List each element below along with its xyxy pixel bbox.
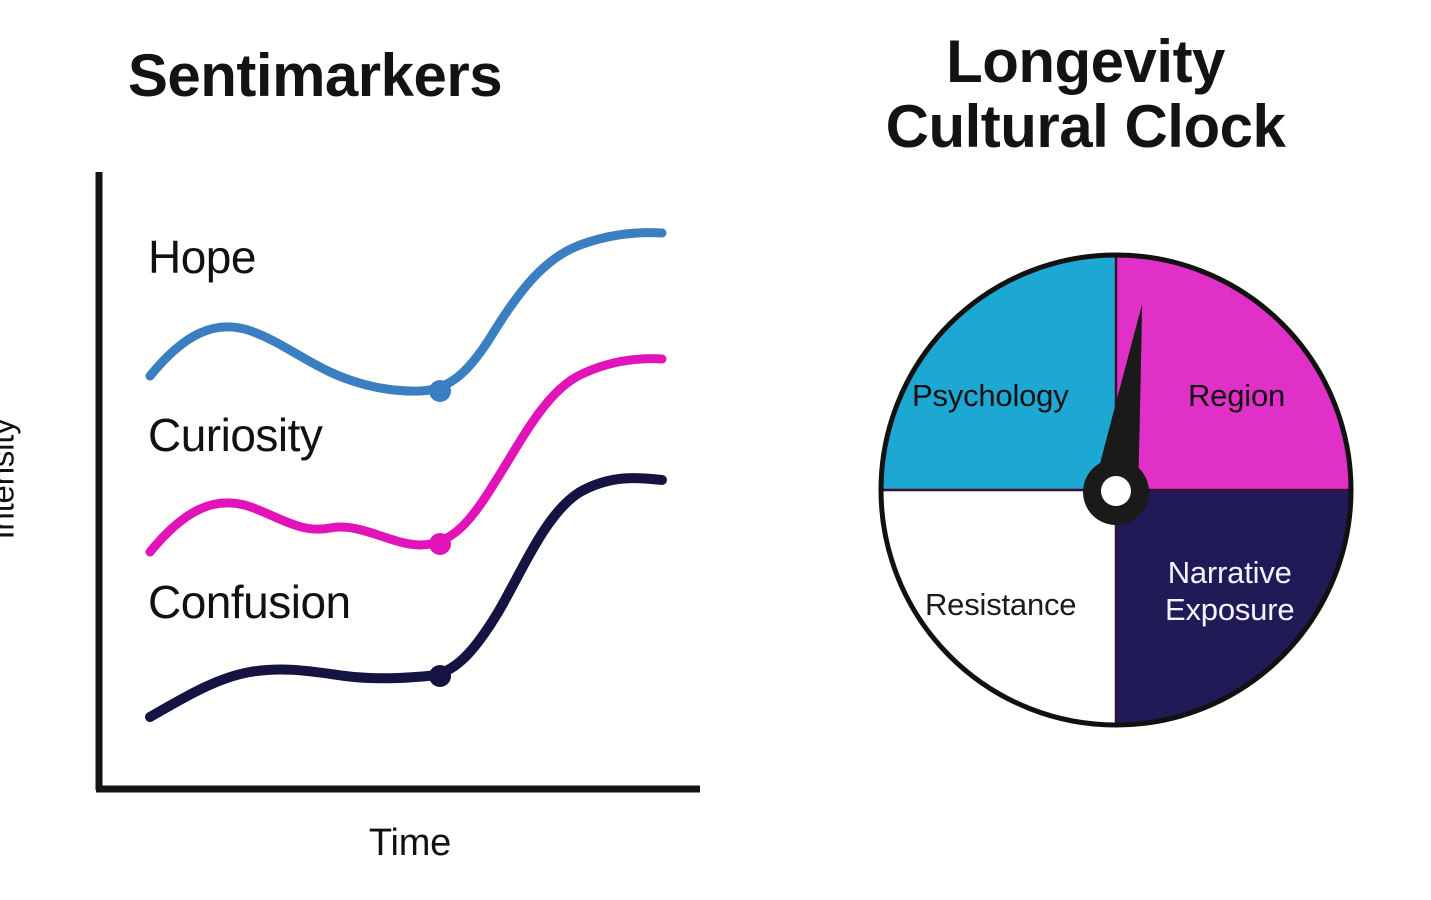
hope-marker-point bbox=[429, 380, 451, 402]
sentimarkers-panel: Sentimarkers Hope Curiosity Confusion In… bbox=[0, 0, 740, 900]
sentimarkers-line-chart bbox=[0, 0, 740, 900]
quadrant-label-resistance: Resistance bbox=[925, 587, 1076, 624]
y-axis-label: Intensity bbox=[0, 418, 22, 539]
quadrant-label-narrative-exposure: Narrative Exposure bbox=[1165, 555, 1294, 628]
quadrant-psychology[interactable] bbox=[881, 255, 1116, 490]
x-axis-label: Time bbox=[300, 822, 520, 865]
confusion-marker-point bbox=[429, 665, 451, 687]
curiosity-marker-point bbox=[429, 533, 451, 555]
longevity-clock-panel: Longevity Cultural Clock Psychology bbox=[740, 0, 1431, 900]
longevity-cultural-clock-dial bbox=[866, 240, 1366, 740]
quadrant-label-psychology: Psychology bbox=[912, 378, 1069, 415]
poster-root: Sentimarkers Hope Curiosity Confusion In… bbox=[0, 0, 1431, 900]
longevity-clock-title: Longevity Cultural Clock bbox=[740, 30, 1431, 160]
clock-hub-center bbox=[1101, 476, 1131, 506]
series-label-curiosity: Curiosity bbox=[148, 408, 322, 462]
quadrant-label-region: Region bbox=[1188, 378, 1285, 415]
series-label-hope: Hope bbox=[148, 230, 256, 284]
quadrant-region[interactable] bbox=[1116, 255, 1351, 490]
series-label-confusion: Confusion bbox=[148, 575, 351, 629]
